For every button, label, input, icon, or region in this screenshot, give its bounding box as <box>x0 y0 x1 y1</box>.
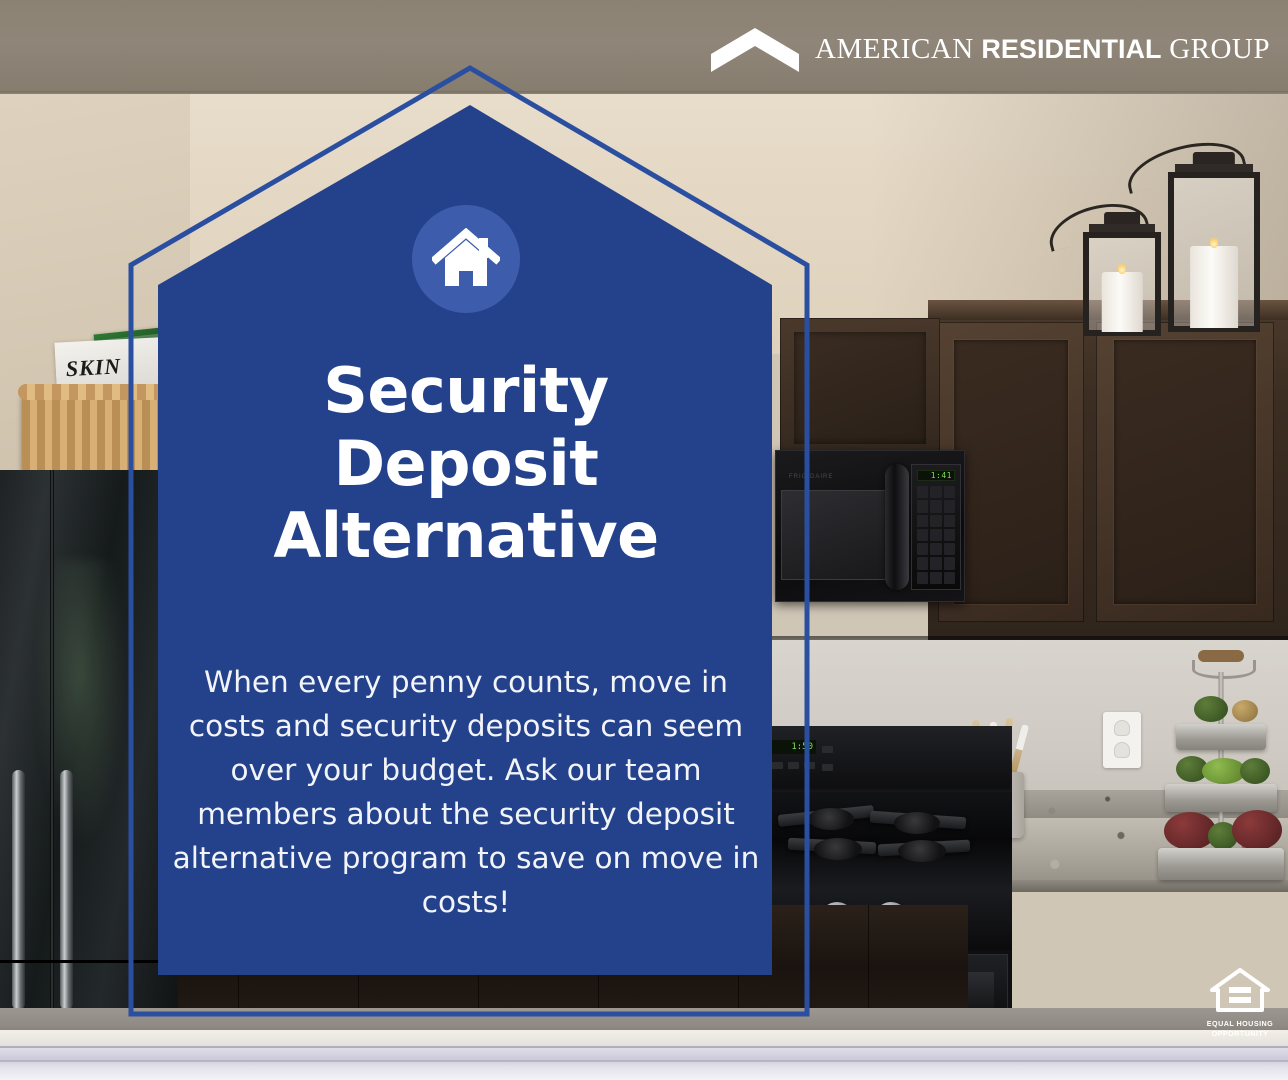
brand-word-group: GROUP <box>1169 33 1270 65</box>
brand-name: AMERICAN RESIDENTIAL GROUP <box>815 33 1270 66</box>
eho-caption: EQUAL HOUSING OPPORTUNITY <box>1204 1019 1276 1038</box>
eho-line-2: OPPORTUNITY <box>1204 1029 1276 1039</box>
equal-housing-opportunity-logo: EQUAL HOUSING OPPORTUNITY <box>1204 968 1276 1038</box>
roof-chevron-icon <box>711 26 799 72</box>
house-icon-badge <box>412 205 520 313</box>
eho-line-1: EQUAL HOUSING <box>1204 1019 1276 1029</box>
page-title: Security Deposit Alternative <box>158 355 774 573</box>
brand-word-residential: RESIDENTIAL <box>981 34 1161 64</box>
brand-logo: AMERICAN RESIDENTIAL GROUP <box>711 26 1270 72</box>
headline-line-3: Alternative <box>158 500 774 573</box>
body-text: When every penny counts, move in costs a… <box>166 661 766 925</box>
house-icon <box>432 228 500 290</box>
brand-word-american: AMERICAN <box>815 33 974 65</box>
headline-line-2: Deposit <box>158 428 774 501</box>
promo-graphic: FRIGIDAIRE 1:41 <box>0 0 1288 1080</box>
panel-content: Security Deposit Alternative When every … <box>158 105 774 977</box>
headline-line-1: Security <box>158 355 774 428</box>
equal-housing-house-icon <box>1210 968 1270 1012</box>
